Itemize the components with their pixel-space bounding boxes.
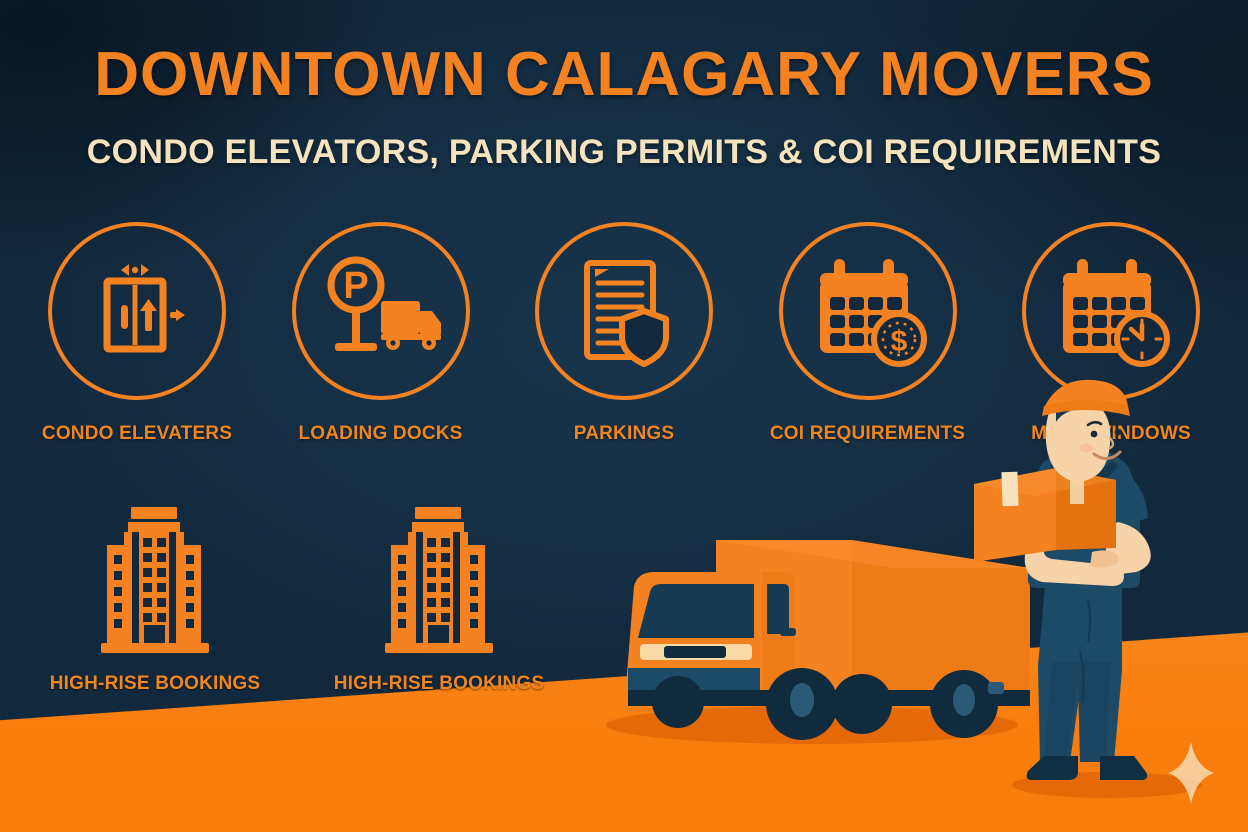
icon-wrap — [383, 505, 495, 655]
infographic-poster: DOWNTOWN CALAGARY MOVERS CONDO ELEVATORS… — [0, 0, 1248, 832]
icon-label: HIGH-RISE BOOKINGS — [334, 673, 545, 695]
icon-circle — [48, 222, 226, 400]
icon-cell-coi-requirements[interactable]: $ COI REQUIREMENTS — [773, 222, 963, 445]
mover-character-icon — [960, 362, 1196, 794]
cardboard-box-icon — [974, 468, 1116, 562]
calendar-dollar-icon: $ — [806, 251, 930, 371]
icon-cell-high-rise-2[interactable]: HIGH-RISE BOOKINGS — [344, 505, 534, 695]
svg-text:$: $ — [890, 325, 907, 358]
icon-label: PARKINGS — [574, 423, 674, 445]
mover-character — [960, 362, 1196, 794]
document-shield-icon — [565, 251, 683, 371]
svg-text:P: P — [343, 265, 368, 307]
high-rise-building-icon — [383, 505, 495, 655]
icon-row-bottom: HIGH-RISE BOOKINGS — [60, 505, 520, 695]
parking-sign-truck-icon: P — [318, 251, 444, 371]
page-title: DOWNTOWN CALAGARY MOVERS — [0, 42, 1248, 107]
sparkle-icon — [1168, 742, 1214, 804]
icon-cell-loading-docks[interactable]: P LOADING DOCKS — [286, 222, 476, 445]
icon-circle: $ — [779, 222, 957, 400]
icon-label: HIGH-RISE BOOKINGS — [50, 673, 261, 695]
page-subtitle: CONDO ELEVATORS, PARKING PERMITS & COI R… — [0, 133, 1248, 172]
icon-wrap — [99, 505, 211, 655]
icon-cell-condo-elevators[interactable]: CONDO ELEVATERS — [42, 222, 232, 445]
icon-label: CONDO ELEVATERS — [42, 423, 232, 445]
icon-cell-high-rise-1[interactable]: HIGH-RISE BOOKINGS — [60, 505, 250, 695]
calendar-clock-icon — [1049, 251, 1173, 371]
sparkle-star — [1168, 742, 1214, 804]
icon-circle — [535, 222, 713, 400]
elevator-icon — [77, 251, 197, 371]
icon-cell-parkings[interactable]: PARKINGS — [529, 222, 719, 445]
high-rise-building-icon — [99, 505, 211, 655]
icon-label: COI REQUIREMENTS — [770, 423, 965, 445]
icon-circle: P — [292, 222, 470, 400]
icon-label: LOADING DOCKS — [298, 423, 462, 445]
